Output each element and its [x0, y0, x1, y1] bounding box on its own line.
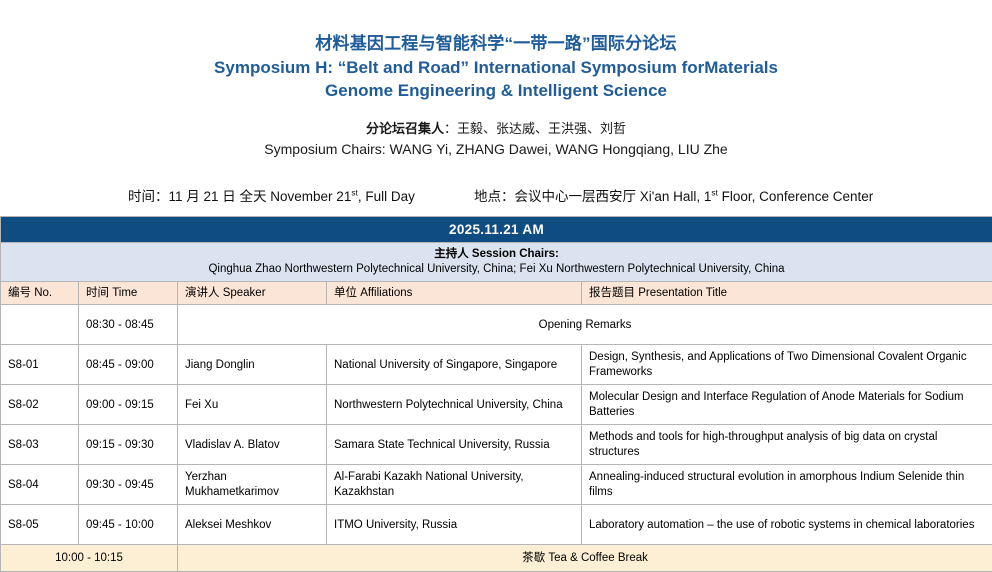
table-row[interactable]: S8-01 08:45 - 09:00 Jiang Donglin Nation… [1, 345, 992, 385]
row-speaker: Yerzhan Mukhametkarimov [178, 465, 327, 505]
page-title-english: Symposium H: “Belt and Road” Internation… [0, 57, 992, 102]
opening-label: Opening Remarks [178, 305, 992, 345]
event-time-text: 时间：11 月 21 日 全天 November 21 [128, 189, 351, 204]
event-place-text: 地点：会议中心一层西安厅 Xi'an Hall, 1 [474, 189, 711, 204]
row-affiliation: ITMO University, Russia [327, 505, 582, 545]
table-row-opening[interactable]: 08:30 - 08:45 Opening Remarks [1, 305, 992, 345]
session-banner-label: 2025.11.21 AM [1, 217, 992, 243]
chairs-english-line: Symposium Chairs: WANG Yi, ZHANG Dawei, … [0, 139, 992, 159]
row-time: 08:45 - 09:00 [79, 345, 178, 385]
column-header-time: 时间 Time [79, 281, 178, 305]
row-speaker: Fei Xu [178, 385, 327, 425]
chairs-chinese-label: 分论坛召集人 [366, 121, 444, 136]
row-affiliation: Northwestern Polytechnical University, C… [327, 385, 582, 425]
event-time: 时间：11 月 21 日 全天 November 21st, Full Day [128, 185, 415, 205]
event-place: 地点：会议中心一层西安厅 Xi'an Hall, 1st Floor, Conf… [474, 185, 873, 205]
row-time: 09:45 - 10:00 [79, 505, 178, 545]
table-row-break[interactable]: 10:00 - 10:15 茶歇 Tea & Coffee Break [1, 545, 992, 572]
session-chairs-row: 主持人 Session Chairs: Qinghua Zhao Northwe… [1, 243, 992, 281]
schedule-table-wrapper: 2025.11.21 AM 主持人 Session Chairs: Qinghu… [0, 216, 992, 572]
opening-time: 08:30 - 08:45 [79, 305, 178, 345]
page-title-chinese: 材料基因工程与智能科学“一带一路”国际分论坛 [0, 33, 992, 55]
row-speaker: Aleksei Meshkov [178, 505, 327, 545]
table-row[interactable]: S8-04 09:30 - 09:45 Yerzhan Mukhametkari… [1, 465, 992, 505]
opening-no [1, 305, 79, 345]
break-time: 10:00 - 10:15 [1, 545, 178, 572]
page-title-block: 材料基因工程与智能科学“一带一路”国际分论坛 Symposium H: “Bel… [0, 0, 992, 102]
page-title-english-line1: Symposium H: “Belt and Road” Internation… [0, 57, 992, 79]
chairs-chinese-names: 王毅、张达威、王洪强、刘哲 [457, 121, 626, 136]
column-header-row: 编号 No. 时间 Time 演讲人 Speaker 单位 Affiliatio… [1, 281, 992, 305]
table-row[interactable]: S8-05 09:45 - 10:00 Aleksei Meshkov ITMO… [1, 505, 992, 545]
row-affiliation: Samara State Technical University, Russi… [327, 425, 582, 465]
row-time: 09:15 - 09:30 [79, 425, 178, 465]
session-banner-row: 2025.11.21 AM [1, 217, 992, 243]
event-meta-line: 时间：11 月 21 日 全天 November 21st, Full Day … [0, 185, 992, 205]
row-affiliation: National University of Singapore, Singap… [327, 345, 582, 385]
row-title: Methods and tools for high-throughput an… [582, 425, 992, 465]
session-chairs-detail: Qinghua Zhao Northwestern Polytechnical … [8, 262, 985, 277]
row-no: S8-02 [1, 385, 79, 425]
row-no: S8-05 [1, 505, 79, 545]
row-no: S8-01 [1, 345, 79, 385]
row-no: S8-04 [1, 465, 79, 505]
row-title: Design, Synthesis, and Applications of T… [582, 345, 992, 385]
table-row[interactable]: S8-02 09:00 - 09:15 Fei Xu Northwestern … [1, 385, 992, 425]
row-speaker: Vladislav A. Blatov [178, 425, 327, 465]
column-header-no: 编号 No. [1, 281, 79, 305]
symposium-chairs-block: 分论坛召集人：王毅、张达威、王洪强、刘哲 Symposium Chairs: W… [0, 120, 992, 159]
break-label: 茶歇 Tea & Coffee Break [178, 545, 992, 572]
row-time: 09:00 - 09:15 [79, 385, 178, 425]
row-no: S8-03 [1, 425, 79, 465]
event-time-tail: , Full Day [358, 189, 415, 204]
row-title: Laboratory automation – the use of robot… [582, 505, 992, 545]
table-row[interactable]: S8-03 09:15 - 09:30 Vladislav A. Blatov … [1, 425, 992, 465]
schedule-table: 2025.11.21 AM 主持人 Session Chairs: Qinghu… [0, 216, 992, 572]
row-title: Annealing-induced structural evolution i… [582, 465, 992, 505]
row-title: Molecular Design and Interface Regulatio… [582, 385, 992, 425]
session-chairs-heading: 主持人 Session Chairs: [8, 247, 985, 262]
row-speaker: Jiang Donglin [178, 345, 327, 385]
column-header-speaker: 演讲人 Speaker [178, 281, 327, 305]
column-header-title: 报告题目 Presentation Title [582, 281, 992, 305]
column-header-affiliation: 单位 Affiliations [327, 281, 582, 305]
row-affiliation: Al-Farabi Kazakh National University, Ka… [327, 465, 582, 505]
chairs-chinese-separator: ： [444, 121, 457, 136]
chairs-chinese-line: 分论坛召集人：王毅、张达威、王洪强、刘哲 [0, 120, 992, 139]
session-chairs-cell: 主持人 Session Chairs: Qinghua Zhao Northwe… [1, 243, 992, 281]
row-time: 09:30 - 09:45 [79, 465, 178, 505]
page-title-english-line2: Genome Engineering & Intelligent Science [0, 80, 992, 102]
event-place-tail: Floor, Conference Center [718, 189, 873, 204]
